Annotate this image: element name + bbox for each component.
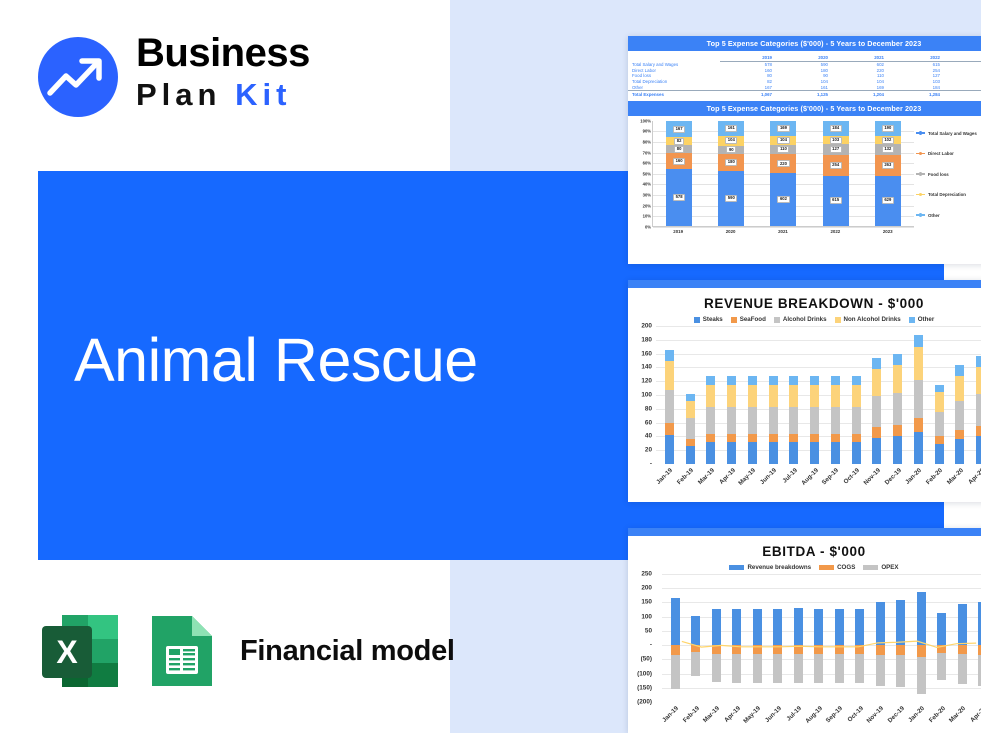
bar-segment	[753, 609, 762, 645]
bar-segment: 161	[718, 121, 744, 136]
bar-segment	[917, 645, 926, 657]
y-tick: 150	[641, 599, 652, 606]
bar-column[interactable]	[932, 574, 953, 702]
y-tick: 30%	[643, 193, 651, 198]
bar-value-label: 169	[777, 125, 789, 132]
bar-segment	[748, 376, 757, 385]
legend-label: Non Alcohol Drinks	[844, 316, 901, 323]
bar-segment: 602	[770, 173, 796, 225]
bar-segment	[686, 418, 695, 439]
legend-item[interactable]: Non Alcohol Drinks	[835, 316, 901, 323]
bar-stack-positive	[935, 385, 944, 464]
x-tick: Apr-20	[973, 704, 981, 705]
bar-value-label: 160	[673, 158, 685, 165]
google-sheets-icon	[148, 612, 216, 690]
bar-segment	[810, 407, 819, 433]
bar-value-label: 161	[725, 125, 737, 132]
bar-stack-negative	[917, 645, 926, 694]
bar-segment	[893, 393, 902, 425]
bar-column[interactable]	[973, 574, 981, 702]
y-tick: 80%	[643, 140, 651, 145]
legend-swatch	[916, 173, 925, 175]
bar-value-label: 220	[777, 160, 789, 167]
chart-legend[interactable]: Total Salary and WagesDirect LaborFood l…	[916, 123, 981, 226]
bar-segment	[789, 376, 798, 385]
microsoft-excel-icon: X	[40, 612, 120, 690]
bar-segment	[686, 401, 695, 418]
bar-segment	[958, 645, 967, 654]
bar-segment	[769, 434, 778, 442]
bar-column[interactable]	[686, 574, 707, 702]
bar-segment	[794, 645, 803, 654]
expense-chart-title: Top 5 Expense Categories ($'000) - 5 Yea…	[628, 101, 981, 116]
brand-plan: Plan	[136, 77, 235, 112]
stacked-bar[interactable]: 184103127254615	[823, 121, 849, 226]
plot-area: 1678280160578161104901805901691041102206…	[652, 121, 914, 227]
bar-stack-positive	[753, 609, 762, 645]
ebitda-legend[interactable]: Revenue breakdownsCOGSOPEX	[628, 564, 981, 571]
x-tick-label: Feb-19	[676, 467, 695, 486]
x-tick-label: Dec-19	[883, 467, 902, 486]
bar-segment	[748, 434, 757, 442]
bar-column[interactable]	[952, 574, 973, 702]
bar-segment	[914, 418, 923, 431]
legend-item[interactable]: Food loss	[916, 164, 981, 185]
bar-segment	[914, 335, 923, 347]
x-tick: May-19	[747, 704, 768, 705]
bar-column[interactable]	[727, 574, 748, 702]
x-tick-label: Mar-19	[697, 467, 716, 486]
format-row: X Financial model	[40, 612, 455, 690]
bar-stack-negative	[773, 645, 782, 683]
bar-segment: 110	[770, 145, 796, 155]
legend-item[interactable]: Alcohol Drinks	[774, 316, 827, 323]
bar-segment	[976, 436, 981, 464]
x-tick: Feb-19	[680, 466, 701, 467]
brand-logo[interactable]: Business Plan Kit	[36, 32, 336, 124]
bar-segment	[955, 430, 964, 440]
bar-value-label: 590	[725, 195, 737, 202]
bar-segment	[835, 609, 844, 645]
y-tick: 90%	[643, 129, 651, 134]
y-tick: 100	[641, 613, 652, 620]
bar-column[interactable]	[680, 326, 701, 464]
bar-stack-positive	[896, 600, 905, 645]
table-cell: 1,204	[832, 91, 888, 97]
bar-value-label: 82	[674, 138, 684, 145]
bar-stack-positive	[814, 609, 823, 645]
y-tick: 180	[641, 336, 652, 343]
x-tick: 2019	[665, 229, 691, 234]
y-tick: (50)	[641, 656, 652, 663]
bar-value-label: 629	[882, 197, 894, 204]
bar-column[interactable]	[747, 574, 768, 702]
bar-value-label: 104	[777, 137, 789, 144]
bar-column[interactable]	[891, 574, 912, 702]
legend-label: Steaks	[703, 316, 723, 323]
bar-segment	[810, 376, 819, 385]
x-tick: 2020	[718, 229, 744, 234]
bar-segment: 132	[875, 144, 901, 155]
x-tick: Dec-19	[891, 704, 912, 705]
bar-column[interactable]	[970, 326, 981, 464]
bar-segment	[852, 376, 861, 385]
bar-segment	[789, 385, 798, 407]
bar-segment	[814, 645, 823, 654]
y-tick: 160	[641, 350, 652, 357]
bar-segment: 102	[875, 136, 901, 144]
bar-column[interactable]	[742, 326, 763, 464]
x-tick-label: Aug-19	[800, 467, 820, 487]
x-tick-label: Jan-20	[905, 467, 924, 486]
bar-stack-negative	[835, 645, 844, 683]
bar-segment	[732, 645, 741, 654]
bar-column[interactable]	[701, 326, 722, 464]
bar-segment	[748, 442, 757, 464]
bar-segment	[835, 645, 844, 654]
revenue-breakdown-card[interactable]: REVENUE BREAKDOWN - $'000 SteaksSeaFoodA…	[628, 280, 981, 502]
table-cell: 1,067	[720, 91, 776, 97]
bar-value-label: 254	[830, 162, 842, 169]
x-tick-label: Apr-19	[718, 467, 737, 486]
bar-segment	[671, 655, 680, 688]
bar-column[interactable]	[763, 326, 784, 464]
bar-column[interactable]	[846, 326, 867, 464]
legend-label: OPEX	[881, 564, 898, 571]
bar-segment	[852, 442, 861, 464]
x-tick-label: May-19	[738, 467, 758, 487]
bar-segment	[769, 442, 778, 464]
x-tick-label: Mar-20	[946, 467, 965, 486]
y-tick: 60%	[643, 161, 651, 166]
stacked-bar[interactable]: 1678280160578	[666, 121, 692, 226]
bar-value-label: 180	[725, 159, 737, 166]
bar-stack-positive	[789, 376, 798, 464]
bar-column[interactable]	[829, 574, 850, 702]
bar-value-label: 263	[882, 162, 894, 169]
format-label: Financial model	[240, 635, 455, 668]
bar-segment	[789, 442, 798, 464]
legend-swatch	[774, 317, 780, 323]
bar-segment: 590	[718, 171, 744, 226]
bar-stack-positive	[810, 376, 819, 464]
expense-stacked-chart[interactable]: 100%90%80%70%60%50%40%30%20%10%0% 167828…	[628, 119, 981, 243]
bar-segment	[727, 434, 736, 442]
x-axis-labels: Jan-19Feb-19Mar-19Apr-19May-19Jun-19Jul-…	[656, 466, 981, 467]
bar-column[interactable]	[659, 326, 680, 464]
x-axis-labels: 20192020202120222023	[652, 229, 914, 234]
bar-segment	[665, 423, 674, 435]
bar-stack-positive	[876, 602, 885, 645]
bar-column[interactable]	[809, 574, 830, 702]
bar-column[interactable]	[908, 326, 929, 464]
bar-value-label: 90	[726, 146, 736, 153]
x-tick: Mar-19	[701, 466, 722, 467]
x-tick: Jul-19	[784, 466, 805, 467]
legend-label: SeaFood	[740, 316, 766, 323]
bar-segment	[872, 358, 881, 369]
y-tick: 20%	[643, 203, 651, 208]
bar-stack-negative	[876, 645, 885, 686]
bar-segment: 104	[718, 136, 744, 146]
bar-column[interactable]	[784, 326, 805, 464]
y-tick: 20	[645, 447, 652, 454]
legend-swatch	[819, 565, 834, 570]
bar-column[interactable]	[825, 326, 846, 464]
legend-swatch	[916, 194, 925, 196]
bar-column[interactable]	[867, 326, 888, 464]
bar-column[interactable]	[706, 574, 727, 702]
legend-label: Food loss	[928, 172, 949, 177]
x-tick: Sep-19	[825, 466, 846, 467]
bar-value-label: 132	[882, 146, 894, 153]
x-tick: Jun-19	[768, 704, 789, 705]
x-tick-label: Mar-20	[948, 705, 967, 724]
legend-item[interactable]: Other	[916, 205, 981, 226]
bar-segment	[855, 645, 864, 654]
legend-item[interactable]: Total Depreciation	[916, 184, 981, 205]
bar-segment	[876, 602, 885, 645]
bar-segment	[917, 592, 926, 645]
bar-segment: 127	[823, 144, 849, 154]
legend-item[interactable]: OPEX	[863, 564, 898, 571]
x-axis-labels: Jan-19Feb-19Mar-19Apr-19May-19Jun-19Jul-…	[662, 704, 981, 705]
bar-segment	[691, 652, 700, 676]
table-cell: 1,284	[888, 91, 944, 97]
bars-container	[656, 326, 981, 464]
bar-stack-positive	[855, 609, 864, 645]
legend-label: Total Salary and Wages	[928, 131, 977, 136]
bar-column[interactable]	[887, 326, 908, 464]
x-tick: Oct-19	[850, 704, 871, 705]
x-tick-label: Feb-20	[925, 467, 944, 486]
x-tick-label: Jul-19	[781, 467, 799, 485]
bar-segment	[732, 654, 741, 683]
y-tick: 10%	[643, 214, 651, 219]
expense-categories-card[interactable]: Top 5 Expense Categories ($'000) - 5 Yea…	[628, 36, 981, 264]
legend-swatch	[863, 565, 878, 570]
bar-stack-positive	[732, 609, 741, 645]
legend-item[interactable]: Total Salary and Wages	[916, 123, 981, 144]
bar-segment: 167	[666, 121, 692, 137]
y-tick: 70%	[643, 150, 651, 155]
bar-segment	[706, 376, 715, 385]
bar-column[interactable]	[911, 574, 932, 702]
slide-canvas: Animal Rescue Business Plan Kit	[0, 0, 981, 733]
x-tick: Mar-20	[950, 466, 971, 467]
bar-segment	[773, 654, 782, 683]
table-body: Total Salary and Wages578590602615629Dir…	[628, 61, 981, 97]
y-tick: 40%	[643, 182, 651, 187]
legend-item[interactable]: Direct Labor	[916, 143, 981, 164]
x-tick: Jun-19	[763, 466, 784, 467]
bar-segment: 80	[666, 145, 692, 153]
bar-stack-negative	[814, 645, 823, 683]
legend-swatch	[916, 214, 925, 216]
x-tick-label: Jan-19	[656, 467, 675, 486]
bar-segment: 263	[875, 155, 901, 176]
stacked-bar[interactable]: 16110490180590	[718, 121, 744, 226]
bar-column[interactable]	[768, 574, 789, 702]
bar-column[interactable]	[804, 326, 825, 464]
bar-segment: 578	[666, 169, 692, 226]
legend-swatch	[835, 317, 841, 323]
bar-segment	[810, 434, 819, 442]
bar-segment	[872, 369, 881, 395]
plot-area	[662, 574, 981, 702]
x-tick: 2023	[875, 229, 901, 234]
legend-item[interactable]: Revenue breakdowns	[729, 564, 811, 571]
bar-segment: 184	[823, 121, 849, 136]
x-tick-label: Apr-20	[969, 705, 981, 724]
bar-segment	[893, 354, 902, 365]
x-tick-label: Jan-20	[907, 705, 926, 724]
bar-stack-positive	[852, 376, 861, 464]
legend-label: Total Depreciation	[928, 192, 966, 197]
bar-value-label: 103	[830, 137, 842, 144]
x-tick-label: Feb-19	[682, 705, 701, 724]
bar-segment	[976, 394, 981, 426]
page-title: Animal Rescue	[74, 330, 478, 391]
bar-value-label: 615	[830, 197, 842, 204]
x-tick-label: Dec-19	[886, 705, 905, 724]
bar-stack-positive	[712, 609, 721, 645]
revenue-legend[interactable]: SteaksSeaFoodAlcohol DrinksNon Alcohol D…	[628, 316, 981, 323]
y-tick: 100%	[640, 118, 651, 123]
bar-segment	[914, 380, 923, 419]
stacked-bar[interactable]: 190102132263629	[875, 121, 901, 226]
bar-column[interactable]	[950, 326, 971, 464]
bar-segment	[855, 609, 864, 645]
table-cell: 1,125	[776, 91, 832, 97]
bar-segment	[753, 654, 762, 683]
y-tick: 60	[645, 419, 652, 426]
bar-stack-positive	[727, 376, 736, 464]
legend-item[interactable]: COGS	[819, 564, 855, 571]
x-tick: Jan-20	[908, 466, 929, 467]
bar-column[interactable]	[665, 574, 686, 702]
y-tick: 50%	[643, 171, 651, 176]
expense-table-title: Top 5 Expense Categories ($'000) - 5 Yea…	[628, 36, 981, 51]
bar-segment	[876, 655, 885, 686]
x-tick: Sep-19	[829, 704, 850, 705]
x-tick-label: Apr-19	[723, 705, 742, 724]
x-tick: Mar-19	[706, 704, 727, 705]
bar-column[interactable]	[721, 326, 742, 464]
bar-segment	[727, 407, 736, 433]
bar-stack-positive	[872, 358, 881, 464]
legend-swatch	[731, 317, 737, 323]
bar-stack-positive	[691, 616, 700, 645]
legend-label: Other	[918, 316, 935, 323]
bar-segment	[686, 394, 695, 401]
legend-swatch	[916, 153, 925, 155]
bar-segment	[665, 361, 674, 389]
legend-label: Revenue breakdowns	[747, 564, 811, 571]
bar-segment: 169	[770, 121, 796, 136]
ebitda-plot-wrap: 25020015010050-(50)(100)(150)(200) Jan-1…	[628, 574, 981, 724]
bar-stack-positive	[917, 592, 926, 645]
x-tick-label: Oct-19	[846, 705, 865, 724]
bar-segment	[753, 645, 762, 654]
bar-segment: 220	[770, 154, 796, 173]
bar-stack-positive	[671, 598, 680, 645]
brand-line-business: Business	[136, 32, 310, 75]
bar-segment	[727, 442, 736, 464]
bar-segment	[872, 396, 881, 427]
bar-segment	[665, 435, 674, 464]
revenue-chart-title: REVENUE BREAKDOWN - $'000	[628, 296, 981, 311]
bar-column[interactable]	[929, 326, 950, 464]
trending-up-circle-icon	[36, 35, 120, 119]
card-top-accent	[628, 528, 981, 536]
x-tick: Feb-20	[929, 466, 950, 467]
legend-item[interactable]: Other	[909, 316, 935, 323]
table-total-row: Total Expenses1,0671,1251,2041,2841,316	[628, 91, 981, 97]
bar-value-label: 578	[673, 194, 685, 201]
y-tick: -	[650, 642, 652, 649]
bar-stack-negative	[855, 645, 864, 683]
bar-segment	[935, 436, 944, 444]
bar-segment	[896, 645, 905, 655]
bar-stack-negative	[712, 645, 721, 681]
bar-value-label: 167	[673, 126, 685, 133]
bar-segment	[810, 385, 819, 407]
y-axis-labels: 100%90%80%70%60%50%40%30%20%10%0%	[630, 121, 651, 227]
ebitda-card[interactable]: EBITDA - $'000 Revenue breakdownsCOGSOPE…	[628, 528, 981, 733]
bar-segment	[706, 434, 715, 442]
y-tick: 140	[641, 364, 652, 371]
legend-label: Direct Labor	[928, 151, 954, 156]
bar-segment	[671, 598, 680, 645]
bar-segment	[712, 645, 721, 654]
x-tick: Nov-19	[870, 704, 891, 705]
bar-stack-negative	[753, 645, 762, 683]
bar-stack-negative	[896, 645, 905, 687]
legend-swatch	[729, 565, 744, 570]
stacked-bar[interactable]: 169104110220602	[770, 121, 796, 226]
bar-value-label: 127	[830, 146, 842, 153]
bar-segment	[876, 645, 885, 655]
bar-segment	[852, 407, 861, 433]
legend-item[interactable]: Steaks	[694, 316, 723, 323]
bar-column[interactable]	[788, 574, 809, 702]
bar-segment	[935, 385, 944, 393]
bar-value-label: 190	[882, 125, 894, 132]
bar-stack-positive	[831, 376, 840, 464]
x-tick: Apr-19	[721, 466, 742, 467]
bar-value-label: 184	[830, 125, 842, 132]
bar-value-label: 102	[882, 137, 894, 144]
y-tick: (200)	[637, 699, 652, 706]
bar-segment	[686, 439, 695, 446]
x-tick-label: Apr-20	[967, 467, 981, 486]
bar-segment	[794, 654, 803, 683]
bar-stack-positive	[835, 609, 844, 645]
bar-segment	[831, 442, 840, 464]
bar-segment	[665, 350, 674, 362]
bar-column[interactable]	[850, 574, 871, 702]
bar-segment	[935, 392, 944, 412]
legend-item[interactable]: SeaFood	[731, 316, 766, 323]
legend-swatch	[694, 317, 700, 323]
legend-label: COGS	[837, 564, 855, 571]
y-tick: 200	[641, 585, 652, 592]
bar-segment: 103	[823, 136, 849, 144]
bar-stack-negative	[794, 645, 803, 683]
x-tick: Apr-20	[970, 466, 981, 467]
bar-column[interactable]	[870, 574, 891, 702]
